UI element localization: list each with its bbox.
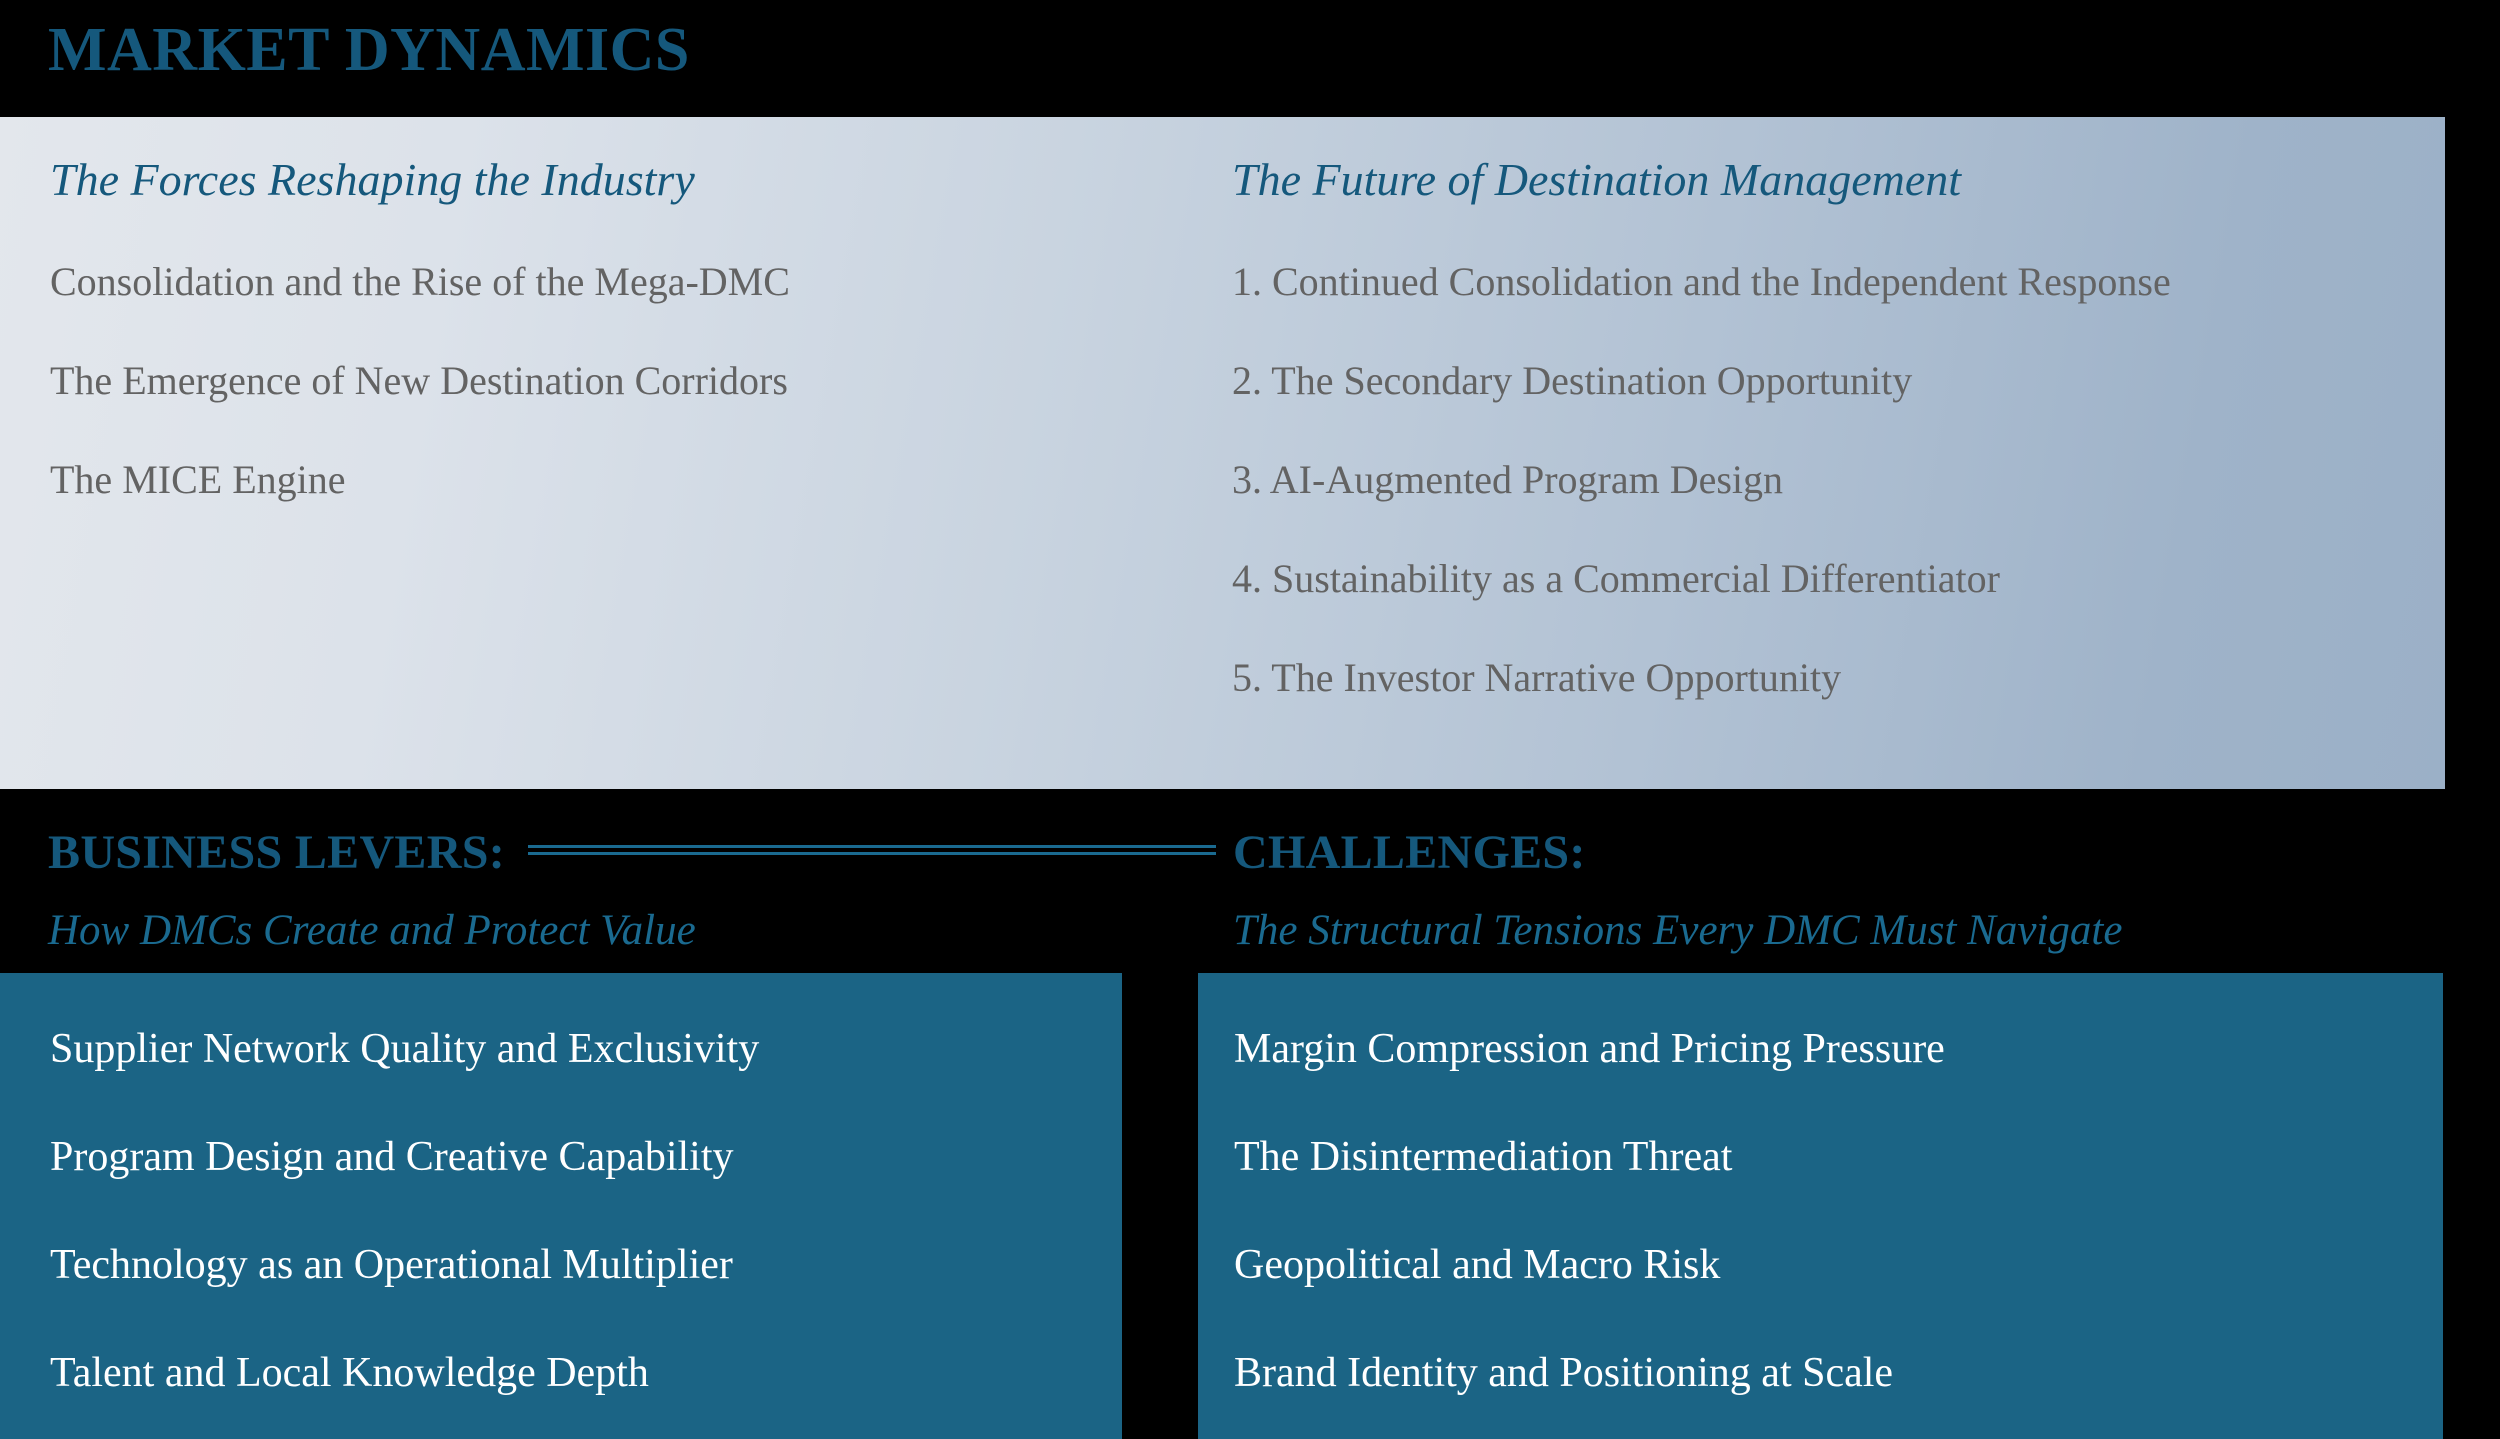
- rule-line-bottom: [528, 852, 1216, 855]
- forces-column-heading: The Forces Reshaping the Industry: [50, 151, 695, 209]
- list-item[interactable]: Program Design and Creative Capability: [50, 1131, 1122, 1183]
- future-column: The Future of Destination Management 1. …: [1232, 117, 2412, 789]
- business-levers-subtitle: How DMCs Create and Protect Value: [48, 905, 696, 957]
- forces-list: Consolidation and the Rise of the Mega-D…: [50, 257, 1200, 554]
- list-item[interactable]: 5. The Investor Narrative Opportunity: [1232, 653, 2412, 703]
- list-item[interactable]: Technology as an Operational Multiplier: [50, 1239, 1122, 1291]
- rule-line-top: [528, 845, 1216, 848]
- heading-divider-rule: [528, 845, 1216, 855]
- lower-section: BUSINESS LEVERS: How DMCs Create and Pro…: [0, 789, 2500, 1439]
- list-item[interactable]: The Emergence of New Destination Corrido…: [50, 356, 1200, 406]
- slide-root: MARKET DYNAMICS The Forces Reshaping the…: [0, 0, 2500, 1439]
- list-item[interactable]: Margin Compression and Pricing Pressure: [1234, 1023, 2443, 1075]
- challenges-title: CHALLENGES:: [1233, 825, 1586, 881]
- list-item[interactable]: The Disintermediation Threat: [1234, 1131, 2443, 1183]
- list-item[interactable]: Talent and Local Knowledge Depth: [50, 1347, 1122, 1399]
- list-item[interactable]: 3. AI-Augmented Program Design: [1232, 455, 2412, 505]
- list-item[interactable]: The MICE Engine: [50, 455, 1200, 505]
- list-item[interactable]: Supplier Network Quality and Exclusivity: [50, 1023, 1122, 1075]
- list-item[interactable]: 1. Continued Consolidation and the Indep…: [1232, 257, 2412, 307]
- list-item[interactable]: Geopolitical and Macro Risk: [1234, 1239, 2443, 1291]
- forces-column: The Forces Reshaping the Industry Consol…: [50, 117, 1200, 789]
- business-levers-title: BUSINESS LEVERS:: [48, 825, 505, 881]
- list-item[interactable]: Consolidation and the Rise of the Mega-D…: [50, 257, 1200, 307]
- list-item[interactable]: 2. The Secondary Destination Opportunity: [1232, 356, 2412, 406]
- business-levers-list: Supplier Network Quality and Exclusivity…: [0, 973, 1122, 1399]
- list-item[interactable]: 4. Sustainability as a Commercial Differ…: [1232, 554, 2412, 604]
- future-column-heading: The Future of Destination Management: [1232, 151, 1961, 209]
- business-levers-box: Supplier Network Quality and Exclusivity…: [0, 973, 1122, 1439]
- future-list: 1. Continued Consolidation and the Indep…: [1232, 257, 2412, 752]
- challenges-list: Margin Compression and Pricing Pressure …: [1198, 973, 2443, 1399]
- challenges-subtitle: The Structural Tensions Every DMC Must N…: [1233, 905, 2122, 957]
- challenges-box: Margin Compression and Pricing Pressure …: [1198, 973, 2443, 1439]
- market-dynamics-panel: The Forces Reshaping the Industry Consol…: [0, 117, 2445, 789]
- list-item[interactable]: Brand Identity and Positioning at Scale: [1234, 1347, 2443, 1399]
- page-title: MARKET DYNAMICS: [48, 14, 690, 86]
